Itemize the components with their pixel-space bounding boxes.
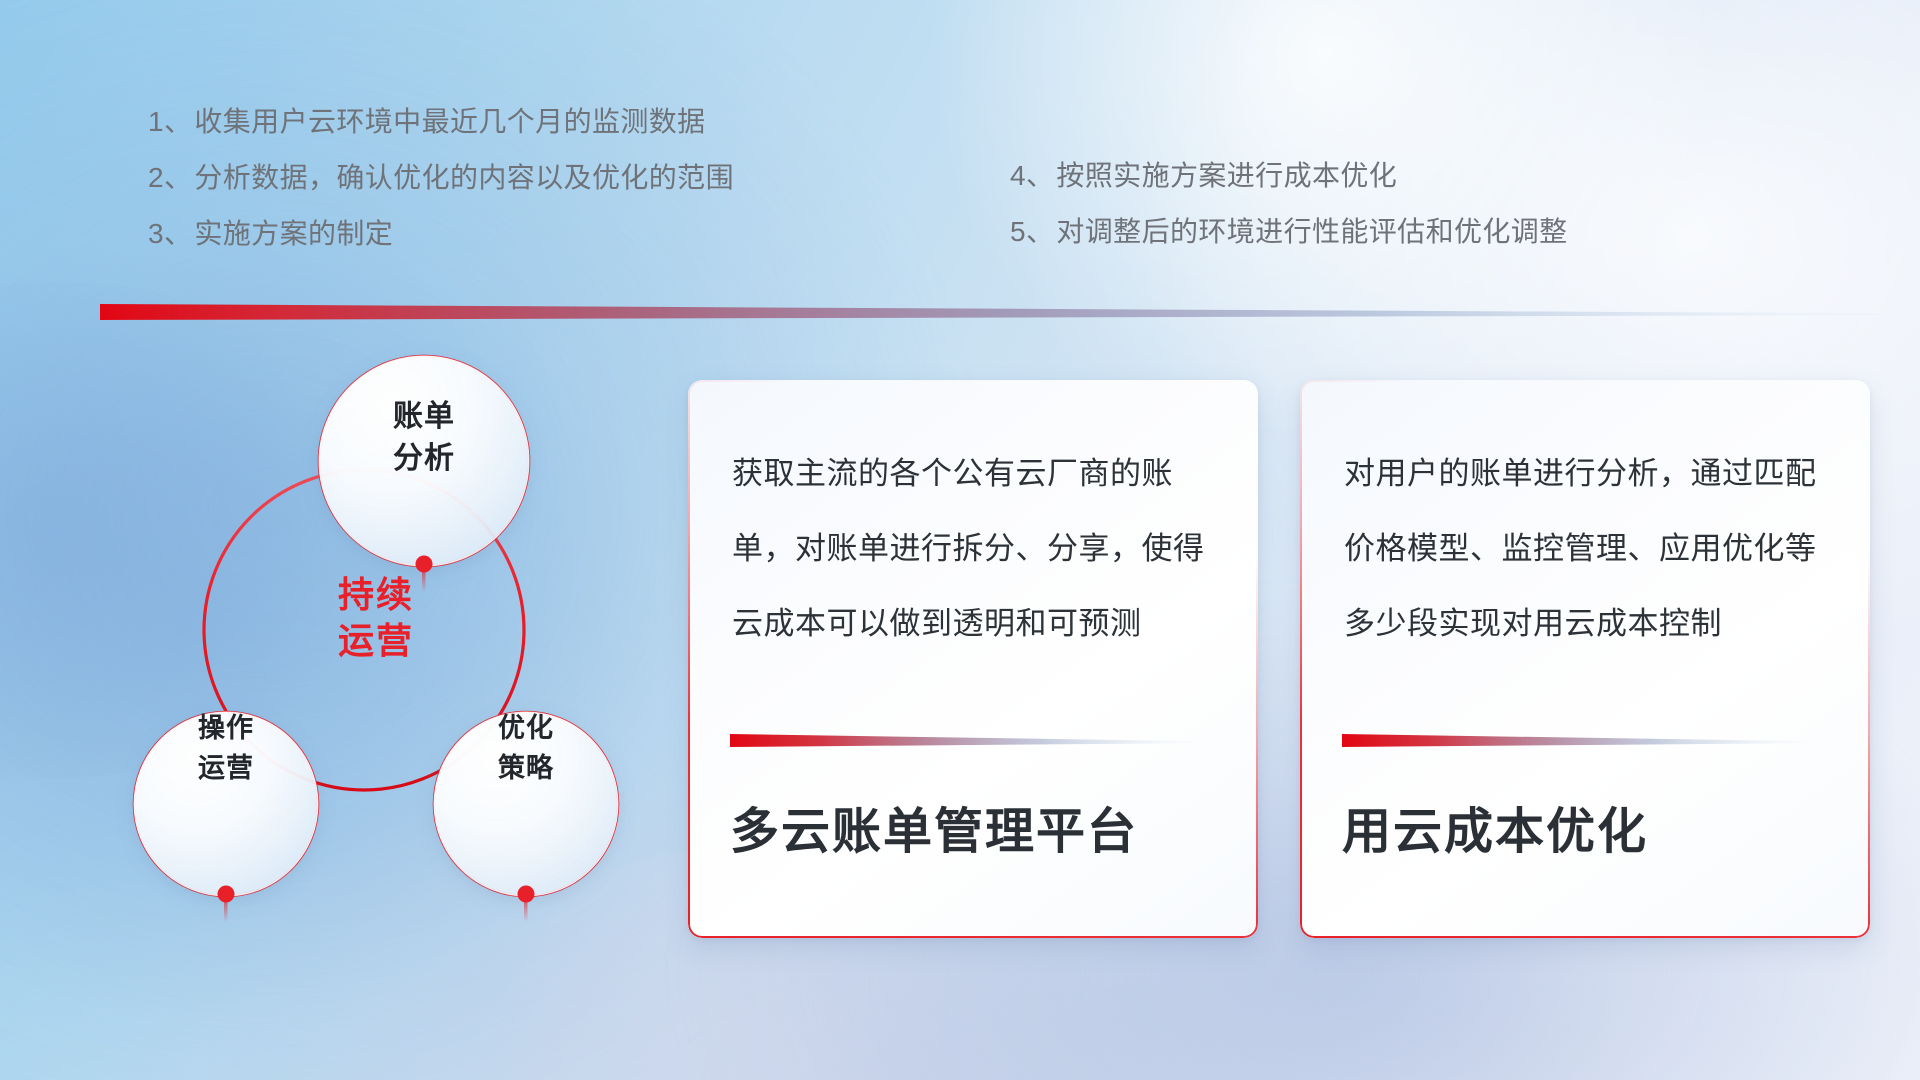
step-text: 按照实施方案进行成本优化 bbox=[1056, 160, 1397, 191]
step-number: 2、 bbox=[148, 162, 192, 193]
step-number: 5、 bbox=[1010, 216, 1054, 247]
connector-dot-top bbox=[416, 556, 433, 593]
continuous-operations-diagram: 账单 分析 操作 运营 优化 策略 持续 运营 bbox=[96, 336, 636, 950]
card-body-text: 获取主流的各个公有云厂商的账单，对账单进行拆分、分享，使得云成本可以做到透明和可… bbox=[732, 436, 1222, 661]
connector-dot-left bbox=[218, 886, 235, 923]
info-card-multi-cloud-billing[interactable]: 获取主流的各个公有云厂商的账单，对账单进行拆分、分享，使得云成本可以做到透明和可… bbox=[688, 380, 1258, 938]
step-text: 收集用户云环境中最近几个月的监测数据 bbox=[194, 106, 705, 137]
step-number: 4、 bbox=[1010, 160, 1054, 191]
steps-column-left: 1、收集用户云环境中最近几个月的监测数据 2、分析数据，确认优化的内容以及优化的… bbox=[148, 94, 734, 262]
card-divider-line bbox=[730, 732, 1216, 750]
step-text: 对调整后的环境进行性能评估和优化调整 bbox=[1056, 216, 1567, 247]
venn-node-bill-analysis bbox=[319, 356, 529, 566]
step-text: 分析数据，确认优化的内容以及优化的范围 bbox=[194, 162, 734, 193]
card-title: 多云账单管理平台 bbox=[730, 800, 1228, 864]
step-text: 实施方案的制定 bbox=[194, 218, 393, 249]
step-number: 3、 bbox=[148, 218, 192, 249]
venn-node-optimization bbox=[434, 712, 618, 896]
step-item: 4、按照实施方案进行成本优化 bbox=[1010, 148, 1568, 204]
card-body-text: 对用户的账单进行分析，通过匹配价格模型、监控管理、应用优化等多少段实现对用云成本… bbox=[1344, 436, 1834, 661]
card-divider-line bbox=[1342, 732, 1828, 750]
card-title: 用云成本优化 bbox=[1342, 800, 1840, 864]
step-item: 1、收集用户云环境中最近几个月的监测数据 bbox=[148, 94, 734, 150]
section-divider-line bbox=[100, 300, 1920, 326]
info-card-cloud-cost-optimization[interactable]: 对用户的账单进行分析，通过匹配价格模型、监控管理、应用优化等多少段实现对用云成本… bbox=[1300, 380, 1870, 938]
steps-column-right: 4、按照实施方案进行成本优化 5、对调整后的环境进行性能评估和优化调整 bbox=[1010, 148, 1568, 260]
connector-dot-right bbox=[518, 886, 535, 923]
step-number: 1、 bbox=[148, 106, 192, 137]
step-item: 2、分析数据，确认优化的内容以及优化的范围 bbox=[148, 150, 734, 206]
step-item: 5、对调整后的环境进行性能评估和优化调整 bbox=[1010, 204, 1568, 260]
step-item: 3、实施方案的制定 bbox=[148, 206, 734, 262]
venn-svg bbox=[96, 336, 636, 950]
venn-node-operations bbox=[134, 712, 318, 896]
